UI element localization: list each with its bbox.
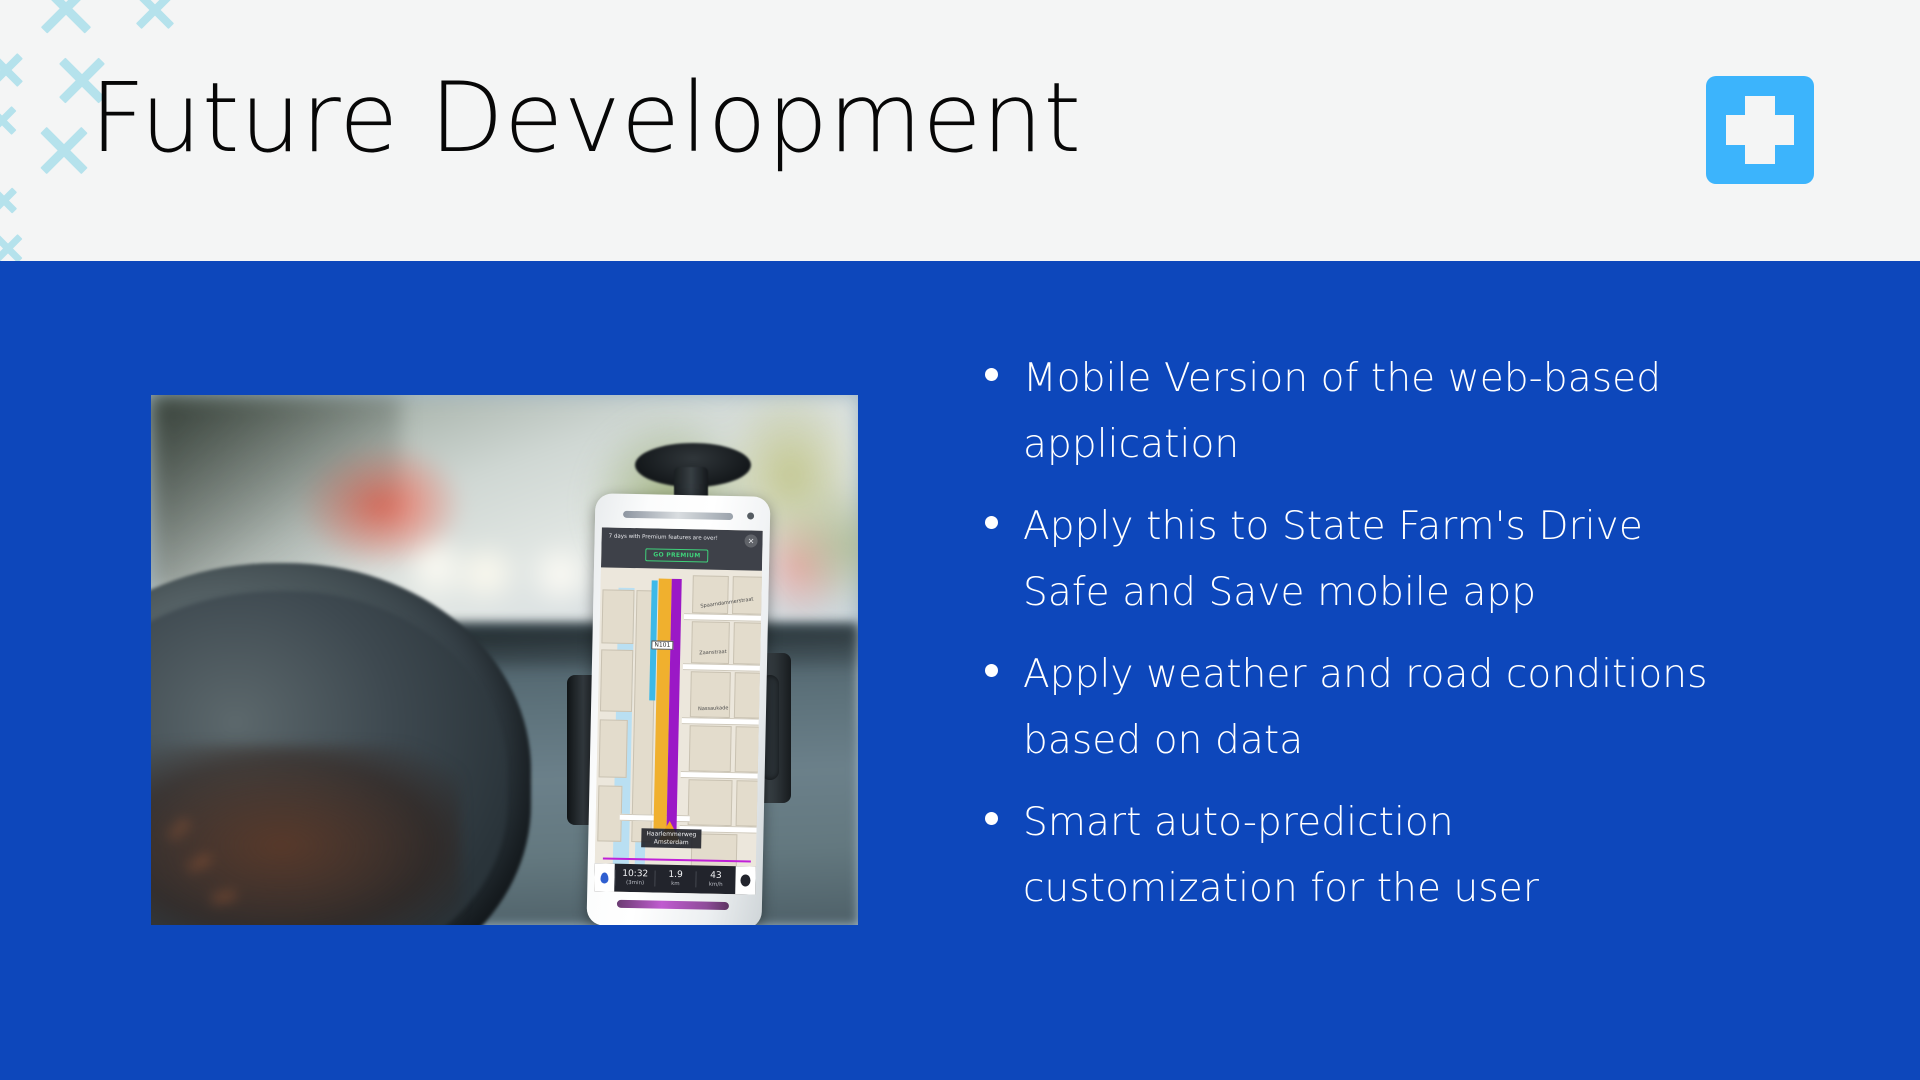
bullet-item: Smart auto-prediction customization for …	[985, 790, 1765, 921]
page-title: Future Development	[90, 70, 1082, 166]
logo-cross-horizontal-bar	[1726, 115, 1794, 145]
bullet-dot-icon	[985, 516, 998, 529]
map-block	[735, 726, 760, 772]
bullet-dot-icon	[985, 664, 998, 677]
bullet-text: Mobile Version of the web-based applicat…	[1023, 346, 1739, 477]
distance-cell: 1.9 km	[655, 871, 696, 888]
phone-earpiece-speaker	[623, 511, 733, 520]
map-pin-icon[interactable]	[594, 863, 615, 891]
bullet-dot-icon	[985, 368, 998, 381]
bullet-item: Apply weather and road conditions based …	[985, 642, 1765, 773]
x-mark-icon	[0, 50, 26, 90]
x-mark-icon	[0, 185, 19, 215]
end-navigation-icon	[740, 874, 750, 886]
map-block	[733, 622, 762, 665]
map-block	[734, 672, 761, 719]
speedometer-tick-160: 160	[210, 889, 237, 909]
x-mark-icon	[132, 0, 178, 33]
map-street-label: Nassaukade	[698, 705, 729, 712]
map-block	[691, 621, 730, 664]
navigation-street-callout: Haarlemmerweg Amsterdam	[641, 828, 701, 848]
speed-unit: km/h	[696, 881, 735, 888]
phone-home-bar	[617, 900, 729, 910]
eta-cell: 10:32 (3min)	[614, 870, 655, 887]
callout-city-name: Amsterdam	[654, 838, 689, 846]
phone-screen: N101 Spaarndammerstraat Zaanstraat Nassa…	[594, 527, 763, 894]
eta-note: (3min)	[615, 880, 654, 887]
x-mark-icon	[0, 231, 25, 261]
bullet-item: Mobile Version of the web-based applicat…	[985, 346, 1765, 477]
distance-unit: km	[656, 880, 695, 887]
map-block	[599, 719, 628, 778]
premium-banner-text: 7 days with Premium features are over!	[609, 533, 739, 542]
speed-cell: 43 km/h	[695, 871, 736, 888]
x-mark-icon	[0, 103, 19, 137]
navigation-status-bar: 10:32 (3min) 1.9 km 43 km/h	[594, 863, 756, 894]
map-block	[736, 780, 759, 826]
close-icon[interactable]: ×	[744, 534, 757, 547]
photo-canvas: 120 140 160	[151, 395, 858, 925]
map-block	[732, 576, 763, 615]
plus-cross-logo	[1706, 76, 1814, 184]
smartphone: N101 Spaarndammerstraat Zaanstraat Nassa…	[586, 493, 770, 925]
x-mark-icon	[35, 0, 97, 39]
bullet-text: Apply this to State Farm's Drive Safe an…	[1023, 494, 1739, 625]
bullet-text: Smart auto-prediction customization for …	[1023, 790, 1739, 921]
slide: Future Development 120 140 160	[0, 0, 1920, 1080]
speedometer-tick-140: 140	[185, 852, 214, 876]
bullet-list: Mobile Version of the web-based applicat…	[985, 346, 1765, 938]
car-navigation-photo: 120 140 160	[151, 395, 858, 925]
map-block	[601, 589, 634, 644]
map-pin-shape	[600, 872, 608, 883]
speedometer-tick-120: 120	[165, 817, 193, 845]
bullet-dot-icon	[985, 812, 998, 825]
slide-body: 120 140 160	[0, 261, 1920, 1080]
go-premium-button[interactable]: GO PREMIUM	[645, 548, 709, 562]
instrument-cluster: 120 140 160	[151, 745, 461, 925]
map-block	[689, 725, 732, 772]
map-block	[600, 649, 633, 712]
bullet-item: Apply this to State Farm's Drive Safe an…	[985, 494, 1765, 625]
end-navigation-button[interactable]	[735, 866, 756, 894]
premium-banner[interactable]: 7 days with Premium features are over! ×…	[601, 527, 763, 570]
x-mark-icon	[35, 121, 93, 179]
bullet-text: Apply weather and road conditions based …	[1023, 642, 1739, 773]
map-block	[597, 785, 622, 841]
phone-front-camera	[747, 512, 754, 519]
slide-header: Future Development	[0, 0, 1920, 261]
map-road-shield: N101	[651, 640, 673, 649]
map-block	[688, 779, 733, 826]
